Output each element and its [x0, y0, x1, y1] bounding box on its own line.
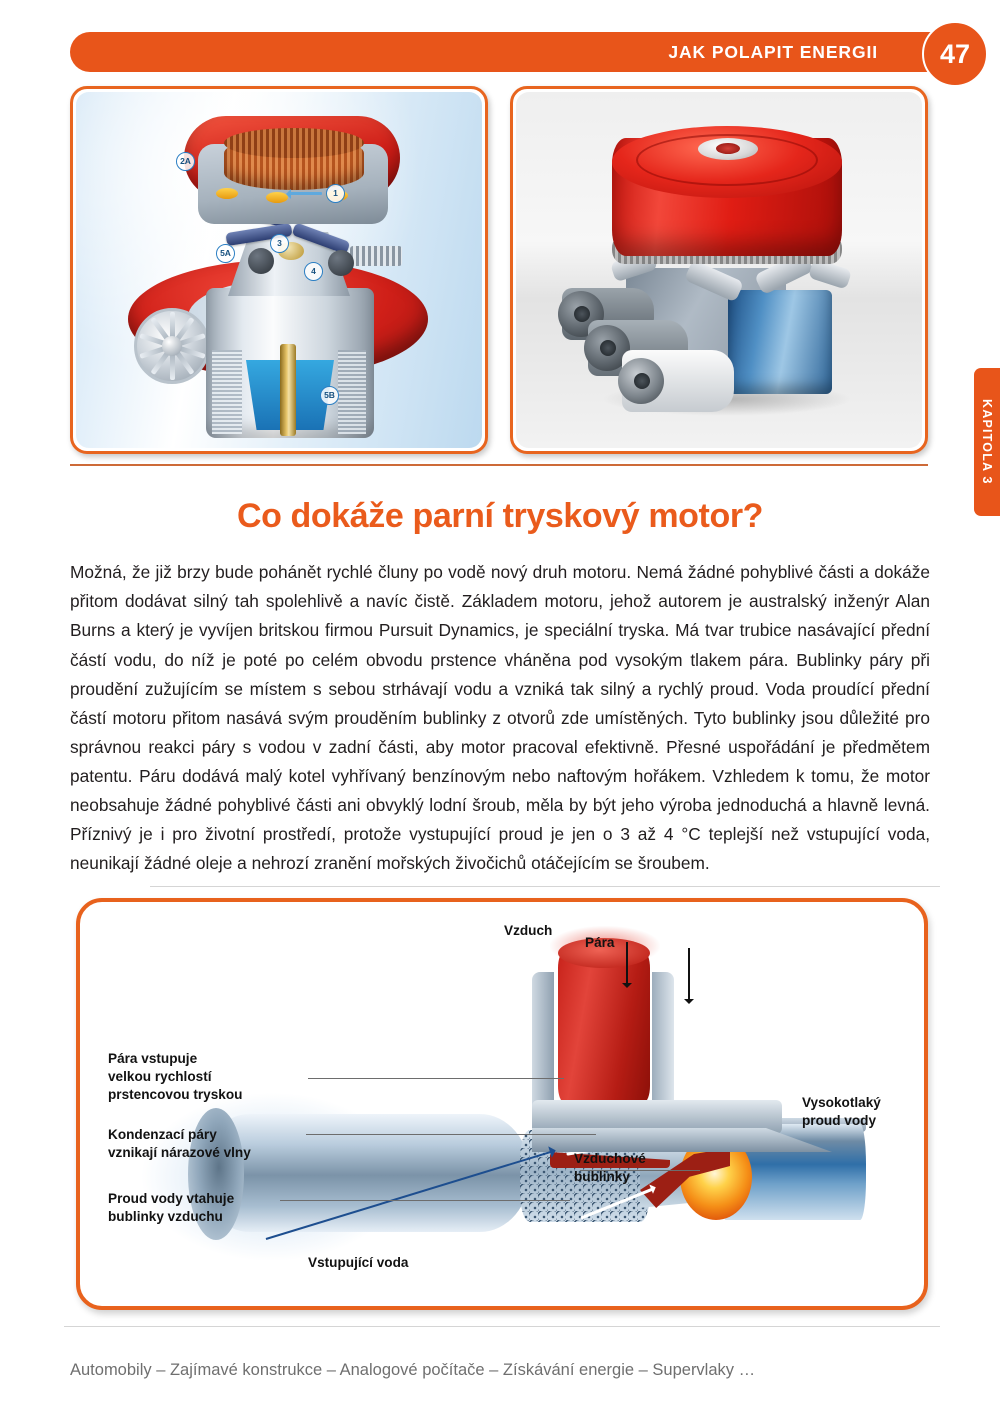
article-title: Co dokáže parní tryskový motor?	[0, 497, 1000, 536]
flow-arrow-1	[288, 192, 322, 195]
page-number-badge: 47	[922, 21, 988, 87]
label-air-in: Vzduch	[504, 922, 552, 940]
copper-coil-top	[224, 128, 364, 158]
callout-5b: 5B	[320, 386, 339, 405]
label-bubble-intake: Proud vody vtahuje bublinky vzduchu	[108, 1190, 234, 1226]
figure-canvas: Vzduch Pára Pára vstupuje velkou rychlos…	[80, 902, 924, 1306]
figure-bottom-rule	[64, 1326, 940, 1327]
callout-2a: 2A	[176, 152, 195, 171]
leader-bubble-intake	[280, 1200, 570, 1201]
callout-3: 3	[270, 234, 289, 253]
page-header-bar: JAK POLAPIT ENERGII	[70, 32, 970, 72]
thruster-front	[622, 350, 734, 412]
drum-center-port	[716, 143, 740, 154]
flyweight-right	[328, 250, 354, 276]
footer-teaser-text: Automobily – Zajímavé konstrukce – Analo…	[70, 1361, 755, 1380]
chapter-tab-label: KAPITOLA 3	[980, 399, 994, 485]
callout-1: 1	[326, 184, 345, 203]
label-steam-in: Pára	[585, 934, 614, 952]
photo-row: 1 2A 3 4 5A 5B	[70, 86, 928, 454]
chapter-tab: KAPITOLA 3	[974, 368, 1000, 516]
label-high-pressure-stream: Vysokotlaký proud vody	[802, 1094, 881, 1130]
yellow-vane-left	[216, 188, 238, 199]
engine-fin-strip-right	[338, 350, 366, 434]
thruster-hub	[634, 373, 650, 389]
article-body-text: Možná, že již brzy bude pohánět rychlé č…	[70, 558, 930, 878]
air-inlet-arrow	[626, 942, 628, 984]
label-shockwaves: Kondenzací páry vznikají nárazové vlny	[108, 1126, 251, 1162]
leader-shockwaves	[306, 1134, 596, 1135]
photo-cutaway-canvas: 1 2A 3 4 5A 5B	[76, 92, 482, 448]
label-steam-ring-nozzle: Pára vstupuje velkou rychlostí prstencov…	[108, 1050, 242, 1104]
photo-rendered-engine	[510, 86, 928, 454]
steam-chamber-red	[558, 952, 650, 1102]
fan-hub	[162, 336, 182, 356]
photo-rendered-canvas	[516, 92, 922, 448]
thruster-hub	[574, 306, 590, 322]
callout-5a: 5A	[216, 244, 235, 263]
label-air-bubbles: Vzduchové bublinky	[574, 1150, 646, 1186]
page-number: 47	[940, 41, 970, 68]
blue-tank	[728, 290, 832, 394]
section-divider-rule	[70, 464, 928, 466]
flyweight-left	[248, 248, 274, 274]
figure-top-rule	[150, 886, 940, 887]
coil-spring	[350, 246, 402, 266]
steam-inlet-arrow	[688, 948, 690, 1000]
photo-cutaway-engine-illustration: 1 2A 3 4 5A 5B	[70, 86, 488, 454]
label-incoming-water: Vstupující voda	[308, 1254, 408, 1272]
thruster-hub	[600, 340, 616, 356]
engine-fin-strip-left	[212, 350, 242, 434]
page-header-title: JAK POLAPIT ENERGII	[668, 42, 878, 63]
figure-diagram-box: Vzduch Pára Pára vstupuje velkou rychlos…	[76, 898, 928, 1310]
leader-steam-ring	[308, 1078, 564, 1079]
ducted-fan-icon	[134, 308, 210, 384]
callout-4: 4	[304, 262, 323, 281]
brass-shaft	[280, 344, 296, 436]
